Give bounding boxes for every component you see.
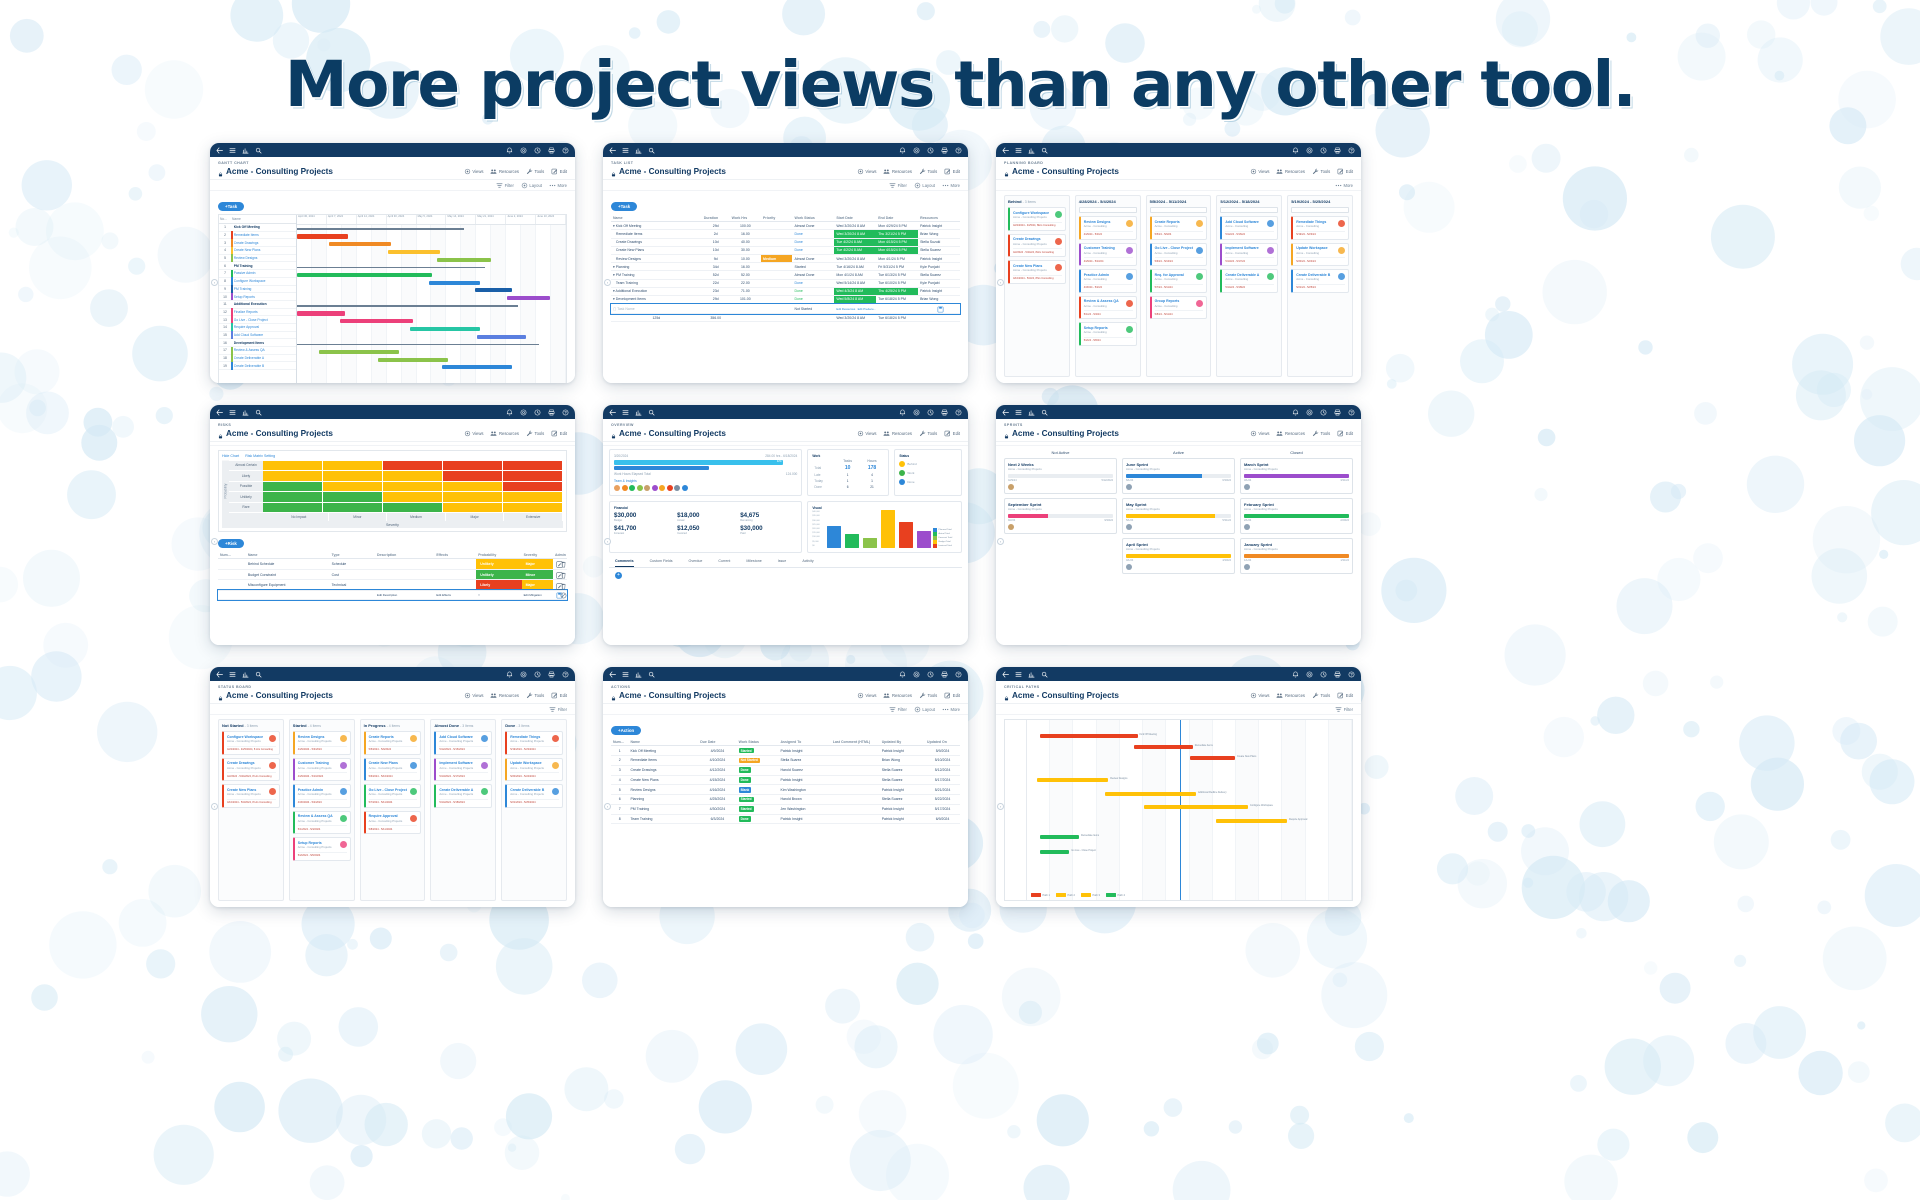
gantt-task-bar[interactable] (297, 311, 345, 315)
critical-path-bar[interactable]: Kick Off Meeting (1040, 734, 1138, 738)
print-icon[interactable] (548, 147, 555, 154)
col-severity[interactable]: Severity (522, 551, 553, 559)
table-row[interactable]: Budget Constraint Cost Unlikely Minor (218, 569, 567, 580)
toolbar-views[interactable]: Views (464, 430, 484, 437)
new-task-row[interactable]: ▢ Task Name Not Started Edit Resources E… (611, 304, 960, 314)
search-icon[interactable] (1041, 147, 1048, 154)
clock-icon[interactable] (927, 671, 934, 678)
table-row[interactable]: Behind Schedule Schedule Unlikely Major (218, 559, 567, 570)
sidebar-toggle[interactable]: › (211, 538, 218, 545)
bell-icon[interactable] (1292, 671, 1299, 678)
board-card[interactable]: Create Deliverable A Acme - Consulting P… (434, 784, 492, 808)
col-effects[interactable]: Effects (434, 551, 476, 559)
bell-icon[interactable] (506, 409, 513, 416)
toolbar-layout[interactable]: Layout (914, 182, 935, 189)
toolbar-edit[interactable]: Edit (551, 430, 567, 437)
search-icon[interactable] (648, 147, 655, 154)
tab-custom-fields[interactable]: Custom Fields (650, 557, 673, 567)
toolbar-resources[interactable]: Resources (490, 168, 519, 175)
col-updated-by[interactable]: Updated By (880, 738, 925, 746)
matrix-cell[interactable] (503, 471, 563, 482)
toolbar-more[interactable]: More (1335, 182, 1353, 189)
clock-icon[interactable] (927, 409, 934, 416)
print-icon[interactable] (1334, 671, 1341, 678)
bar-planned[interactable] (827, 526, 841, 548)
gantt-task-bar[interactable] (437, 258, 491, 262)
clock-icon[interactable] (534, 671, 541, 678)
matrix-cell[interactable] (323, 503, 383, 514)
gantt-task-bar[interactable] (329, 242, 391, 246)
print-icon[interactable] (548, 671, 555, 678)
bar-actual[interactable] (845, 534, 859, 548)
back-arrow-icon[interactable] (1002, 409, 1009, 416)
table-row[interactable]: 6 Planning 4/25/2024 Started Harold Brow… (611, 795, 960, 805)
toolbar-more[interactable]: More (942, 182, 960, 189)
chart-icon[interactable] (242, 147, 249, 154)
sprint-card[interactable]: April Sprint Acme - Consulting Projects … (1122, 538, 1235, 574)
board-card[interactable]: Practice Admin Acme - Consulting Project… (293, 784, 351, 808)
toolbar-views[interactable]: Views (857, 692, 877, 699)
hamburger-icon[interactable] (1015, 671, 1022, 678)
board-card[interactable]: Require Approval Acme - Consulting Proje… (364, 811, 422, 835)
board-card[interactable]: Create Drawings Acme - Consulting Projec… (1008, 234, 1066, 258)
help-icon[interactable] (562, 671, 569, 678)
col-assigned-to[interactable]: Assigned To (778, 738, 830, 746)
board-card[interactable]: Req. for Approval Acme - Consulting 5/7/… (1150, 269, 1208, 293)
board-card[interactable]: Update Workspace Acme - Consulting 5/20/… (1291, 243, 1349, 267)
matrix-cell[interactable] (443, 492, 503, 503)
bell-icon[interactable] (506, 147, 513, 154)
chart-icon[interactable] (635, 409, 642, 416)
hamburger-icon[interactable] (1015, 409, 1022, 416)
target-icon[interactable] (913, 671, 920, 678)
hamburger-icon[interactable] (622, 409, 629, 416)
matrix-cell[interactable] (263, 471, 323, 482)
table-row[interactable]: Review Designs 9d 10.00 Medium Almost Do… (611, 254, 960, 262)
tab-overdue[interactable]: Overdue (689, 557, 703, 567)
back-arrow-icon[interactable] (609, 147, 616, 154)
sidebar-toggle[interactable]: › (604, 538, 611, 545)
col-updated-on[interactable]: Updated On (925, 738, 960, 746)
matrix-cell[interactable] (323, 461, 383, 472)
board-card[interactable]: Implement Software Acme - Consulting Pro… (434, 758, 492, 782)
critical-path-bar[interactable]: Remediate Items (1134, 745, 1193, 749)
sprint-card[interactable]: January Sprint Acme - Consulting Project… (1240, 538, 1353, 574)
toolbar-edit[interactable]: Edit (551, 168, 567, 175)
toolbar-edit[interactable]: Edit (551, 692, 567, 699)
col-admin[interactable]: Admin (553, 551, 567, 559)
matrix-cell[interactable] (323, 471, 383, 482)
col-name[interactable]: Name (246, 551, 330, 559)
matrix-cell[interactable] (263, 482, 323, 493)
gantt-task-bar[interactable] (319, 350, 400, 354)
chart-icon[interactable] (635, 671, 642, 678)
tab-current[interactable]: Current (718, 557, 730, 567)
add-risk-button[interactable]: +Risk (218, 539, 244, 548)
board-card[interactable]: Create New Plans Acme - Consulting Proje… (364, 758, 422, 782)
hamburger-icon[interactable] (1015, 147, 1022, 154)
board-card[interactable]: Setup Reports Acme - Consulting 5/2/24 -… (1079, 322, 1137, 346)
print-icon[interactable] (1334, 409, 1341, 416)
new-risk-prob[interactable]: ▾ (476, 590, 521, 599)
board-card[interactable]: Configure Workspace Acme - Consulting Pr… (222, 731, 280, 755)
help-icon[interactable] (955, 147, 962, 154)
bell-icon[interactable] (899, 409, 906, 416)
new-risk-row[interactable]: Edit Description Edit Effects ▾ Edit Mit… (218, 590, 567, 599)
sprint-card[interactable]: May Sprint Acme - Consulting Projects 5/… (1122, 498, 1235, 534)
tab-issue[interactable]: Issue (778, 557, 787, 567)
back-arrow-icon[interactable] (1002, 147, 1009, 154)
print-icon[interactable] (941, 147, 948, 154)
target-icon[interactable] (913, 147, 920, 154)
toolbar-filter[interactable]: Filter (549, 706, 567, 713)
board-card[interactable]: Review & Assess QA Acme - Consulting Pro… (293, 811, 351, 835)
hamburger-icon[interactable] (229, 147, 236, 154)
col-num[interactable]: Num... (218, 551, 246, 559)
help-icon[interactable] (1348, 671, 1355, 678)
board-card[interactable]: Add Cloud Software Acme - Consulting 5/1… (1220, 216, 1278, 240)
gantt-task-bar[interactable] (507, 296, 550, 300)
matrix-cell[interactable] (383, 461, 443, 472)
bar-budget[interactable] (881, 510, 895, 548)
toolbar-layout[interactable]: Layout (521, 182, 542, 189)
col-type[interactable]: Type (330, 551, 375, 559)
col-start-date[interactable]: Start Date (834, 214, 876, 222)
table-row[interactable]: ▾ Additional Execution 23d 71.00 Done We… (611, 287, 960, 295)
sprint-card[interactable]: September Sprint Acme - Consulting Proje… (1004, 498, 1117, 534)
toolbar-views[interactable]: Views (464, 168, 484, 175)
back-arrow-icon[interactable] (216, 147, 223, 154)
toolbar-resources[interactable]: Resources (1276, 692, 1305, 699)
gantt-summary-bar[interactable] (297, 305, 518, 307)
sidebar-toggle[interactable]: › (997, 279, 1004, 286)
toolbar-edit[interactable]: Edit (1337, 168, 1353, 175)
board-card[interactable]: Create New Plans Acme - Consulting Proje… (222, 784, 280, 808)
col-num[interactable]: Num... (611, 738, 628, 746)
toolbar-filter[interactable]: Filter (889, 706, 907, 713)
board-card[interactable]: Create Deliverable B Acme - Consulting P… (505, 784, 563, 808)
col-last-comment-html[interactable]: Last Comment (HTML) (831, 738, 880, 746)
toolbar-more[interactable]: More (549, 182, 567, 189)
col-due-date[interactable]: Due Date (698, 738, 736, 746)
risk-admin[interactable] (553, 569, 567, 580)
toolbar-tools[interactable]: Tools (526, 430, 544, 437)
search-icon[interactable] (648, 409, 655, 416)
toolbar-resources[interactable]: Resources (1276, 430, 1305, 437)
add-task-button[interactable]: +Task (218, 202, 244, 211)
board-column-search[interactable] (1220, 207, 1278, 213)
search-icon[interactable] (1041, 671, 1048, 678)
col-name[interactable]: Name (611, 214, 702, 222)
risk-link[interactable]: Risk Matrix Setting (245, 454, 275, 458)
matrix-cell[interactable] (443, 482, 503, 493)
sprint-card[interactable]: February Sprint Acme - Consulting Projec… (1240, 498, 1353, 534)
toolbar-views[interactable]: Views (857, 430, 877, 437)
gantt-task-bar[interactable] (297, 273, 432, 277)
board-card[interactable]: Create Reports Acme - Consulting 5/5/24 … (1150, 216, 1208, 240)
board-card[interactable]: Go Live - Close Project Acme - Consultin… (1150, 243, 1208, 267)
bar-spent[interactable] (899, 522, 913, 548)
search-icon[interactable] (255, 409, 262, 416)
table-row[interactable]: Remediate Items 2d 16.00 Done Wed 3/20/2… (611, 230, 960, 238)
toolbar-views[interactable]: Views (1250, 692, 1270, 699)
matrix-cell[interactable] (383, 471, 443, 482)
new-task-actions[interactable]: Edit Resources Edit Predece... (834, 304, 918, 314)
toolbar-resources[interactable]: Resources (490, 692, 519, 699)
help-icon[interactable] (1348, 147, 1355, 154)
table-row[interactable]: 3 Create Drawings 4/12/2024 Done Harold … (611, 765, 960, 775)
table-row[interactable]: ▾ Development Items 29d 101.00 Done Wed … (611, 295, 960, 303)
board-column-search[interactable] (1291, 207, 1349, 213)
matrix-cell[interactable] (443, 461, 503, 472)
col-work-hrs[interactable]: Work Hrs (730, 214, 761, 222)
board-card[interactable]: Create Drawings Acme - Consulting Projec… (222, 758, 280, 782)
risk-link[interactable]: Hide Chart (222, 454, 239, 458)
gantt-task-bar[interactable] (475, 288, 513, 292)
matrix-cell[interactable] (263, 503, 323, 514)
chart-icon[interactable] (242, 671, 249, 678)
toolbar-filter[interactable]: Filter (496, 182, 514, 189)
toolbar-edit[interactable]: Edit (944, 692, 960, 699)
toolbar-tools[interactable]: Tools (1312, 168, 1330, 175)
search-icon[interactable] (1041, 409, 1048, 416)
sidebar-toggle[interactable]: › (211, 279, 218, 286)
hamburger-icon[interactable] (229, 409, 236, 416)
bell-icon[interactable] (1292, 409, 1299, 416)
matrix-cell[interactable] (443, 471, 503, 482)
clock-icon[interactable] (534, 409, 541, 416)
col-name[interactable]: Name (628, 738, 698, 746)
sidebar-toggle[interactable]: › (997, 538, 1004, 545)
clock-icon[interactable] (1320, 671, 1327, 678)
critical-path-bar[interactable]: Additional Redline Delivery (1105, 792, 1196, 796)
gantt-task-row[interactable]: 19 Create Deliverable B (219, 362, 296, 370)
col-probability[interactable]: Probability (476, 551, 521, 559)
matrix-cell[interactable] (323, 482, 383, 493)
table-row[interactable]: 4 Create New Plans 4/15/2024 Done Patric… (611, 775, 960, 785)
board-column-search[interactable] (1150, 207, 1208, 213)
bell-icon[interactable] (506, 671, 513, 678)
chart-icon[interactable] (635, 147, 642, 154)
board-card[interactable]: Create Deliverable A Acme - Consulting 5… (1220, 269, 1278, 293)
gantt-summary-bar[interactable] (297, 267, 485, 269)
table-row[interactable]: ▾ PM Training 52d 52.00 Almost Done Mon … (611, 271, 960, 279)
col-end-date[interactable]: End Date (876, 214, 918, 222)
gantt-task-bar[interactable] (442, 365, 512, 369)
chart-icon[interactable] (1028, 147, 1035, 154)
board-card[interactable]: Review Designs Acme - Consulting 4/29/24… (1079, 216, 1137, 240)
back-arrow-icon[interactable] (609, 409, 616, 416)
back-arrow-icon[interactable] (216, 671, 223, 678)
sidebar-toggle[interactable]: › (211, 803, 218, 810)
toolbar-layout[interactable]: Layout (914, 706, 935, 713)
gantt-task-bar[interactable] (477, 335, 525, 339)
board-card[interactable]: Implement Software Acme - Consulting 5/1… (1220, 243, 1278, 267)
target-icon[interactable] (1306, 671, 1313, 678)
matrix-cell[interactable] (383, 503, 443, 514)
critical-path-bar[interactable]: Require Approval (1216, 819, 1288, 823)
tab-milestone[interactable]: Milestone (746, 557, 761, 567)
toolbar-tools[interactable]: Tools (1312, 692, 1330, 699)
bell-icon[interactable] (899, 147, 906, 154)
table-row[interactable]: Create New Plans 10d 30.00 Done Tue 4/2/… (611, 246, 960, 254)
clock-icon[interactable] (534, 147, 541, 154)
board-card[interactable]: Customer Training Acme - Consulting Proj… (293, 758, 351, 782)
gantt-task-bar[interactable] (340, 319, 413, 323)
col-work-status[interactable]: Work Status (737, 738, 779, 746)
tab-activity[interactable]: Activity (802, 557, 813, 567)
comment-add-button[interactable]: + (615, 572, 622, 579)
back-arrow-icon[interactable] (1002, 671, 1009, 678)
matrix-cell[interactable] (503, 492, 563, 503)
bar-remaining[interactable] (917, 531, 931, 548)
toolbar-resources[interactable]: Resources (883, 692, 912, 699)
target-icon[interactable] (520, 671, 527, 678)
table-row[interactable]: 5 Review Designs 4/16/2024 Blank Kim Was… (611, 785, 960, 795)
critical-path-bar[interactable]: Remediate Items (1040, 835, 1079, 839)
table-row[interactable]: ▾ Planning 34d 16.00 Started Tue 4/16/24… (611, 263, 960, 271)
toolbar-views[interactable]: Views (857, 168, 877, 175)
toolbar-edit[interactable]: Edit (944, 168, 960, 175)
target-icon[interactable] (1306, 147, 1313, 154)
matrix-cell[interactable] (503, 482, 563, 493)
toolbar-edit[interactable]: Edit (944, 430, 960, 437)
print-icon[interactable] (548, 409, 555, 416)
critical-path-bar[interactable]: Review Designs (1037, 778, 1109, 782)
new-risk-effects[interactable]: Edit Effects (434, 590, 476, 599)
board-card[interactable]: Create Reports Acme - Consulting Project… (364, 731, 422, 755)
toolbar-views[interactable]: Views (1250, 430, 1270, 437)
help-icon[interactable] (1348, 409, 1355, 416)
critical-path-bar[interactable]: Configure Workspace (1144, 805, 1248, 809)
back-arrow-icon[interactable] (609, 671, 616, 678)
help-icon[interactable] (562, 147, 569, 154)
board-card[interactable]: Configure Workspace Acme - Consulting Pr… (1008, 207, 1066, 231)
board-card[interactable]: Create Deliverable B Acme - Consulting 5… (1291, 269, 1349, 293)
toolbar-tools[interactable]: Tools (526, 168, 544, 175)
gantt-summary-bar[interactable] (297, 228, 464, 230)
toolbar-resources[interactable]: Resources (883, 168, 912, 175)
chart-icon[interactable] (242, 409, 249, 416)
sidebar-toggle[interactable]: › (604, 279, 611, 286)
toolbar-tools[interactable]: Tools (1312, 430, 1330, 437)
new-task-input[interactable]: ▢ Task Name (611, 304, 702, 314)
print-icon[interactable] (1334, 147, 1341, 154)
critical-path-bar[interactable]: Create New Plans (1190, 756, 1236, 760)
board-card[interactable]: Create New Plans Acme - Consulting Proje… (1008, 260, 1066, 284)
matrix-cell[interactable] (263, 461, 323, 472)
toolbar-edit[interactable]: Edit (1337, 430, 1353, 437)
toolbar-more[interactable]: More (942, 706, 960, 713)
sidebar-toggle[interactable]: › (604, 803, 611, 810)
table-row[interactable]: Create Drawings 10d 40.00 Done Tue 4/2/2… (611, 238, 960, 246)
bell-icon[interactable] (1292, 147, 1299, 154)
print-icon[interactable] (941, 409, 948, 416)
risk-admin[interactable] (553, 559, 567, 570)
bell-icon[interactable] (899, 671, 906, 678)
sprint-card[interactable]: June Sprint Acme - Consulting Projects 6… (1122, 458, 1235, 494)
col-description[interactable]: Description (375, 551, 434, 559)
tab-comments[interactable]: Comments (615, 557, 634, 567)
board-card[interactable]: Remediate Things Acme - Consulting Proje… (505, 731, 563, 755)
new-risk-description[interactable]: Edit Description (375, 590, 434, 599)
help-icon[interactable] (955, 671, 962, 678)
clock-icon[interactable] (1320, 147, 1327, 154)
toolbar-tools[interactable]: Tools (919, 692, 937, 699)
toolbar-views[interactable]: Views (1250, 168, 1270, 175)
table-row[interactable]: 7 PM Training 4/30/2024 Started Jen Wash… (611, 804, 960, 814)
target-icon[interactable] (913, 409, 920, 416)
new-task-save[interactable] (918, 304, 960, 314)
matrix-cell[interactable] (383, 482, 443, 493)
target-icon[interactable] (520, 147, 527, 154)
col-priority[interactable]: Priority (761, 214, 792, 222)
new-risk-mitigation[interactable]: Edit Mitigation (522, 590, 553, 599)
hamburger-icon[interactable] (622, 671, 629, 678)
table-row[interactable]: Team Training 22d 22.00 Done Wed 5/14/24… (611, 279, 960, 287)
gantt-summary-bar[interactable] (297, 344, 539, 346)
toolbar-filter[interactable]: Filter (889, 182, 907, 189)
back-arrow-icon[interactable] (216, 409, 223, 416)
toolbar-edit[interactable]: Edit (1337, 692, 1353, 699)
matrix-cell[interactable] (503, 461, 563, 472)
board-card[interactable]: Review Designs Acme - Consulting Project… (293, 731, 351, 755)
board-card[interactable]: Setup Reports Acme - Consulting Projects… (293, 837, 351, 861)
board-column-search[interactable] (1079, 207, 1137, 213)
toolbar-resources[interactable]: Resources (883, 430, 912, 437)
target-icon[interactable] (520, 409, 527, 416)
chart-icon[interactable] (1028, 671, 1035, 678)
table-row[interactable]: 8 Team Training 6/3/2024 Done Patrick In… (611, 814, 960, 824)
sprint-card[interactable]: March Sprint Acme - Consulting Projects … (1240, 458, 1353, 494)
col-work-status[interactable]: Work Status (792, 214, 834, 222)
clock-icon[interactable] (1320, 409, 1327, 416)
table-row[interactable]: Misconfigure Equipment Technical Likely … (218, 580, 567, 591)
print-icon[interactable] (941, 671, 948, 678)
help-icon[interactable] (955, 409, 962, 416)
toolbar-tools[interactable]: Tools (526, 692, 544, 699)
help-icon[interactable] (562, 409, 569, 416)
toolbar-views[interactable]: Views (464, 692, 484, 699)
table-row[interactable]: 2 Remediate Items 4/10/2024 Not Started … (611, 755, 960, 765)
board-card[interactable]: Group Reports Acme - Consulting 5/8/24 -… (1150, 296, 1208, 320)
toolbar-resources[interactable]: Resources (1276, 168, 1305, 175)
toolbar-filter[interactable]: Filter (1335, 706, 1353, 713)
sidebar-toggle[interactable]: › (997, 803, 1004, 810)
clock-icon[interactable] (927, 147, 934, 154)
hamburger-icon[interactable] (229, 671, 236, 678)
col-resources[interactable]: Resources (918, 214, 960, 222)
add-action-button[interactable]: +Action (611, 726, 641, 735)
table-row[interactable]: 1 Kick Off Meeting 4/9/2024 Started Patr… (611, 746, 960, 756)
toolbar-resources[interactable]: Resources (490, 430, 519, 437)
board-card[interactable]: Go Live - Close Project Acme - Consultin… (364, 784, 422, 808)
search-icon[interactable] (648, 671, 655, 678)
board-card[interactable]: Remediate Things Acme - Consulting 5/19/… (1291, 216, 1349, 240)
new-risk-save[interactable] (553, 590, 567, 599)
board-card[interactable]: Add Cloud Software Acme - Consulting Pro… (434, 731, 492, 755)
critical-path-bar[interactable]: Go Live - Close Project (1040, 850, 1069, 854)
chart-icon[interactable] (1028, 409, 1035, 416)
gantt-task-bar[interactable] (378, 358, 448, 362)
matrix-cell[interactable] (443, 503, 503, 514)
col-duration[interactable]: Duration (702, 214, 730, 222)
board-card[interactable]: Practice Admin Acme - Consulting 4/30/24… (1079, 269, 1137, 293)
board-card[interactable]: Review & Assess QA Acme - Consulting 5/1… (1079, 296, 1137, 320)
board-card[interactable]: Customer Training Acme - Consulting 4/29… (1079, 243, 1137, 267)
gantt-task-bar[interactable] (297, 234, 348, 238)
add-task-button[interactable]: +Task (611, 202, 637, 211)
